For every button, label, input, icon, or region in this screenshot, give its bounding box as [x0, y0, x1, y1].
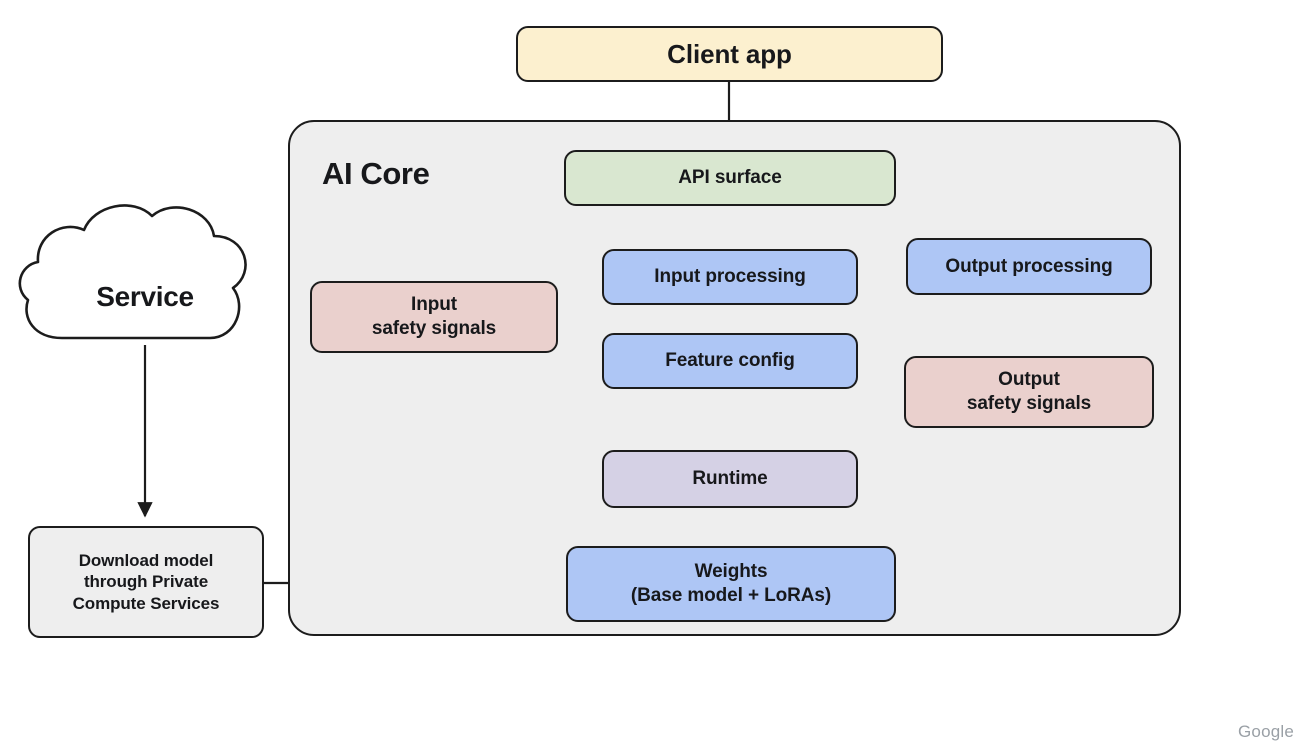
google-watermark: Google	[1238, 722, 1294, 742]
node-weights-label: Weights (Base model + LoRAs)	[631, 560, 831, 608]
node-runtime-label: Runtime	[692, 467, 767, 491]
ai-core-title: AI Core	[322, 156, 429, 192]
node-output-processing[interactable]: Output processing	[906, 238, 1152, 295]
node-output-processing-label: Output processing	[945, 255, 1112, 279]
node-input-processing-label: Input processing	[654, 265, 805, 289]
node-input-safety-signals-label: Input safety signals	[372, 293, 496, 341]
node-client-app[interactable]: Client app	[516, 26, 943, 82]
node-weights[interactable]: Weights (Base model + LoRAs)	[566, 546, 896, 622]
node-output-safety-signals-label: Output safety signals	[967, 368, 1091, 416]
node-feature-config[interactable]: Feature config	[602, 333, 858, 389]
node-runtime[interactable]: Runtime	[602, 450, 858, 508]
diagram-canvas: AI Core Client app Service Download mode…	[0, 0, 1304, 756]
node-download-model[interactable]: Download model through Private Compute S…	[28, 526, 264, 638]
node-service-cloud-label: Service	[0, 281, 290, 313]
cloud-shape	[20, 205, 246, 338]
node-output-safety-signals[interactable]: Output safety signals	[904, 356, 1154, 428]
node-input-processing[interactable]: Input processing	[602, 249, 858, 305]
node-api-surface[interactable]: API surface	[564, 150, 896, 206]
node-client-app-label: Client app	[667, 38, 792, 71]
node-feature-config-label: Feature config	[665, 349, 795, 373]
node-api-surface-label: API surface	[678, 166, 781, 190]
node-download-model-label: Download model through Private Compute S…	[73, 550, 220, 614]
node-input-safety-signals[interactable]: Input safety signals	[310, 281, 558, 353]
